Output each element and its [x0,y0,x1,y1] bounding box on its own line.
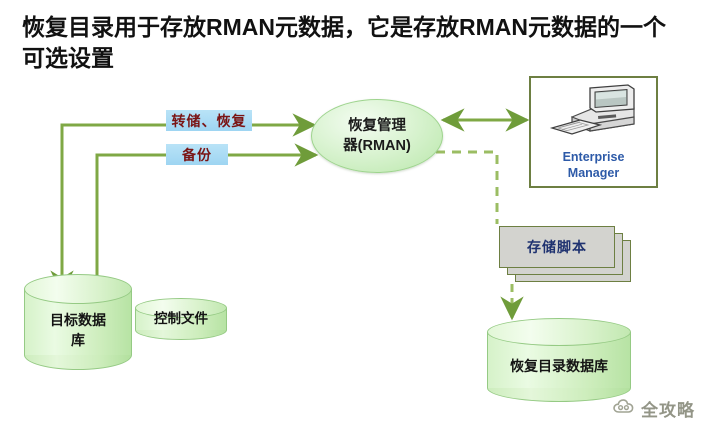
em-label-line1: Enterprise [563,150,625,164]
node-recovery-manager[interactable]: 恢复管理 器(RMAN) [311,99,443,173]
cloud-logo-icon [612,396,638,421]
target-database-label-line2: 库 [71,332,85,348]
rman-label-line1: 恢复管理 [348,116,406,136]
em-label-line2: Manager [568,166,619,180]
node-stored-scripts[interactable]: 存储脚本 [499,226,631,282]
edge-label-dump-restore: 转储、恢复 [166,110,252,131]
cylinder-top [24,274,132,304]
watermark: 全攻略 [612,396,695,421]
node-enterprise-manager[interactable]: Enterprise Manager [529,76,658,188]
node-target-database[interactable]: 目标数据 库 [24,274,132,370]
target-database-label: 目标数据 库 [24,310,132,350]
enterprise-manager-label: Enterprise Manager [563,149,625,181]
rman-label-line2: 器(RMAN) [343,136,411,156]
edge-rman-stored-scripts [436,152,497,224]
stored-script-sheet-front: 存储脚本 [499,226,615,268]
target-database-label-line1: 目标数据 [50,312,106,328]
desktop-computer-icon [548,84,640,147]
node-control-file[interactable]: 控制文件 [135,298,227,340]
watermark-text: 全攻略 [641,396,695,421]
control-file-label: 控制文件 [135,310,227,328]
diagram-canvas: 恢复目录用于存放RMAN元数据，它是存放RMAN元数据的一个可选设置 store… [0,0,712,428]
cylinder-top [487,318,631,346]
stored-scripts-label: 存储脚本 [527,237,587,257]
node-recovery-catalog-database[interactable]: 恢复目录数据库 [487,318,631,402]
edge-label-backup: 备份 [166,144,228,165]
recovery-catalog-database-label: 恢复目录数据库 [487,356,631,376]
